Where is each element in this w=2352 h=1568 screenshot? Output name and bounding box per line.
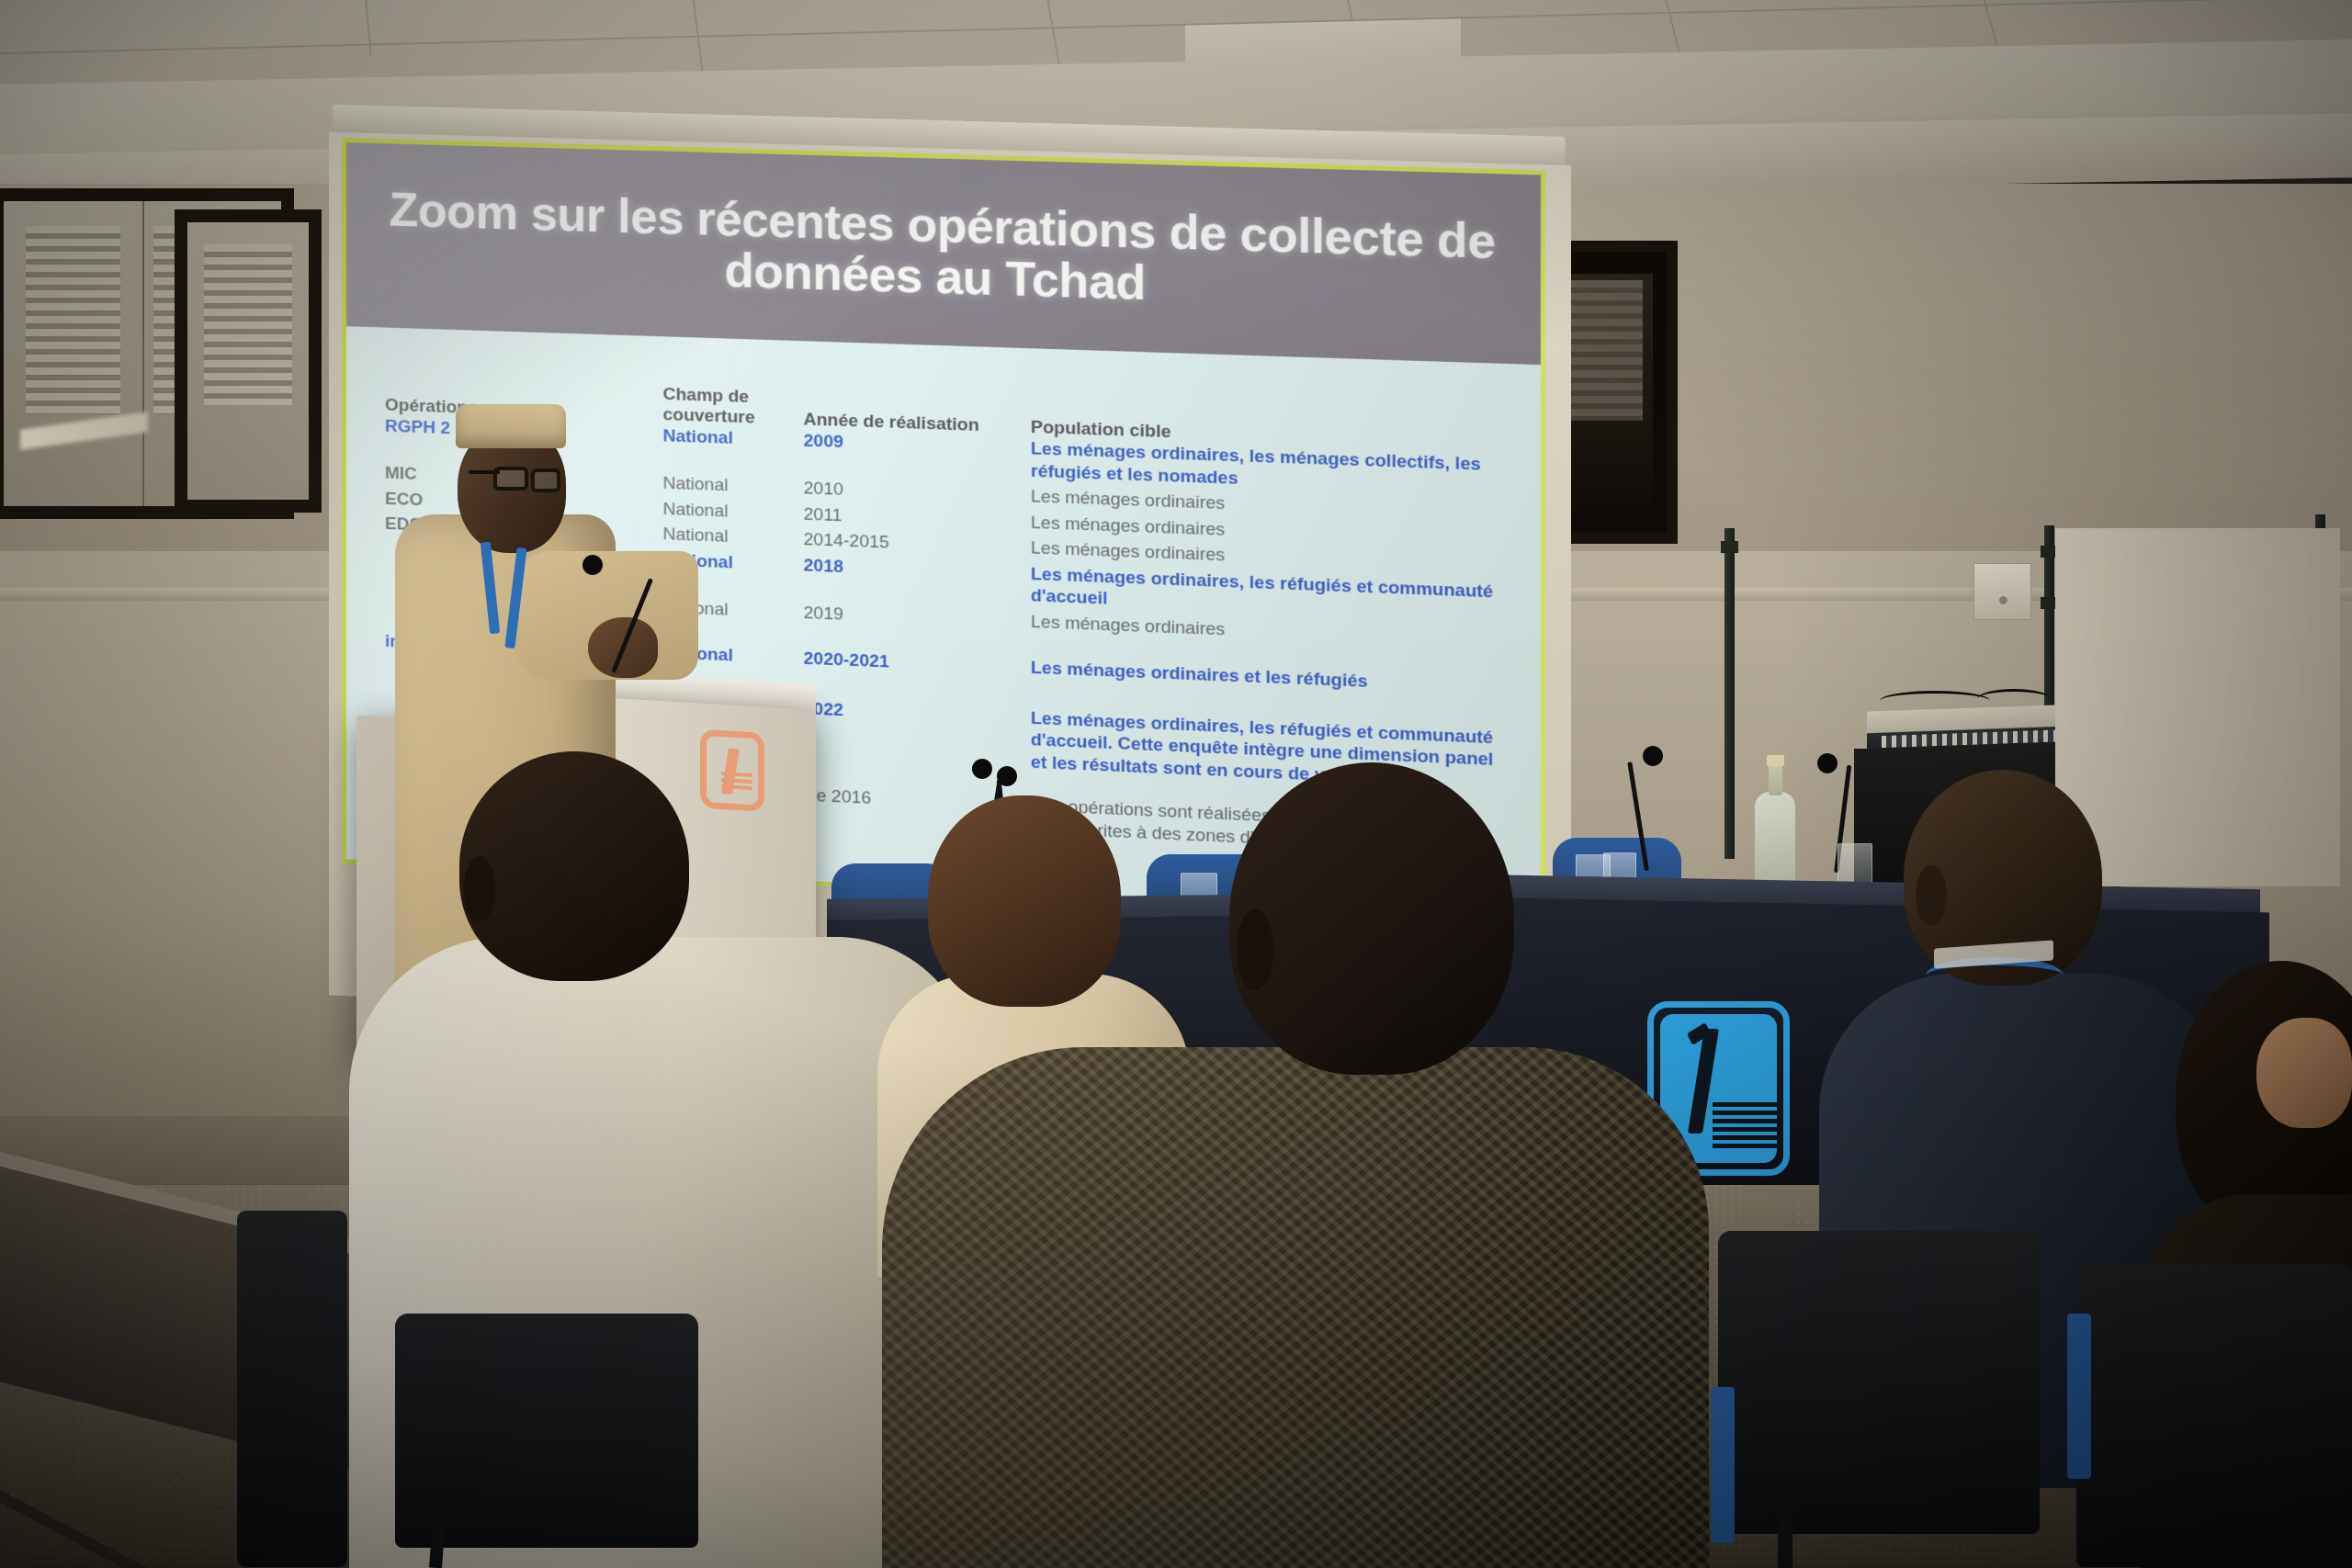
audience-chair-0 — [237, 1211, 347, 1567]
panel-microphone-head-1 — [972, 759, 992, 779]
right-drape — [2055, 528, 2340, 886]
truss-pole-left — [1724, 528, 1735, 859]
cell-year: 2022 — [804, 698, 1031, 729]
cell-coverage: National — [663, 498, 804, 525]
water-bottle-neck — [1769, 762, 1782, 795]
cell-year: 2019 — [804, 603, 1031, 634]
attendee-patterned-jacket-head — [1229, 762, 1514, 1075]
panel-microphone-head-3 — [1817, 753, 1837, 773]
cell-coverage: National — [663, 524, 804, 551]
mixer-cables — [1880, 691, 1990, 711]
podium-microphone-head — [582, 555, 603, 575]
water-bottle-cap — [1767, 755, 1784, 766]
window-left-inner — [175, 209, 322, 513]
panel-microphone-head-4 — [997, 766, 1017, 786]
mixer-cables-2 — [1977, 689, 2051, 709]
slide-title: Zoom sur les récentes opérations de coll… — [346, 184, 1541, 322]
cell-coverage: National — [663, 473, 804, 500]
speaker-glasses-right-lens — [531, 468, 560, 492]
cell-year: 2014-2015 — [804, 529, 1031, 559]
wall-speaker — [1973, 563, 2031, 620]
header-coverage: Champ de couverture — [663, 385, 804, 431]
conference-room-photo: Zoom sur les récentes opérations de coll… — [0, 0, 2352, 1568]
audience-chair-2-pad — [1711, 1387, 1735, 1543]
audience-chair-2-leg — [1778, 1506, 1792, 1568]
attendee-cream-blazer-head — [928, 795, 1121, 1007]
attendee-navy-blazer-ear — [1916, 865, 1947, 926]
cell-population: Les ménages ordinaires et les réfugiés — [1031, 658, 1508, 699]
attendee-right-edge-face — [2256, 1018, 2352, 1128]
audience-chair-2 — [1718, 1231, 2040, 1534]
audience-chair-3-pad — [2067, 1314, 2091, 1479]
cell-year: 2011 — [804, 503, 1031, 534]
cell-coverage: National — [663, 425, 804, 452]
audience-chair-3 — [2076, 1264, 2352, 1567]
panel-microphone-head-2 — [1643, 746, 1663, 766]
podium-logo-icon — [700, 729, 764, 812]
speaker-glasses-temple — [469, 470, 500, 474]
attendee-patterned-jacket-ear — [1237, 909, 1273, 990]
attendee-patterned-jacket-body — [882, 1047, 1709, 1568]
speaker-kufi-cap — [456, 404, 566, 448]
cell-year: 2010 — [804, 478, 1031, 508]
attendee-white-shirt-ear — [464, 856, 495, 922]
cell-year: 2020-2021 — [804, 649, 1031, 680]
attendee-white-shirt-head — [459, 751, 689, 981]
cell-year: 2018 — [804, 555, 1031, 585]
drinking-glass-4 — [1837, 843, 1872, 884]
